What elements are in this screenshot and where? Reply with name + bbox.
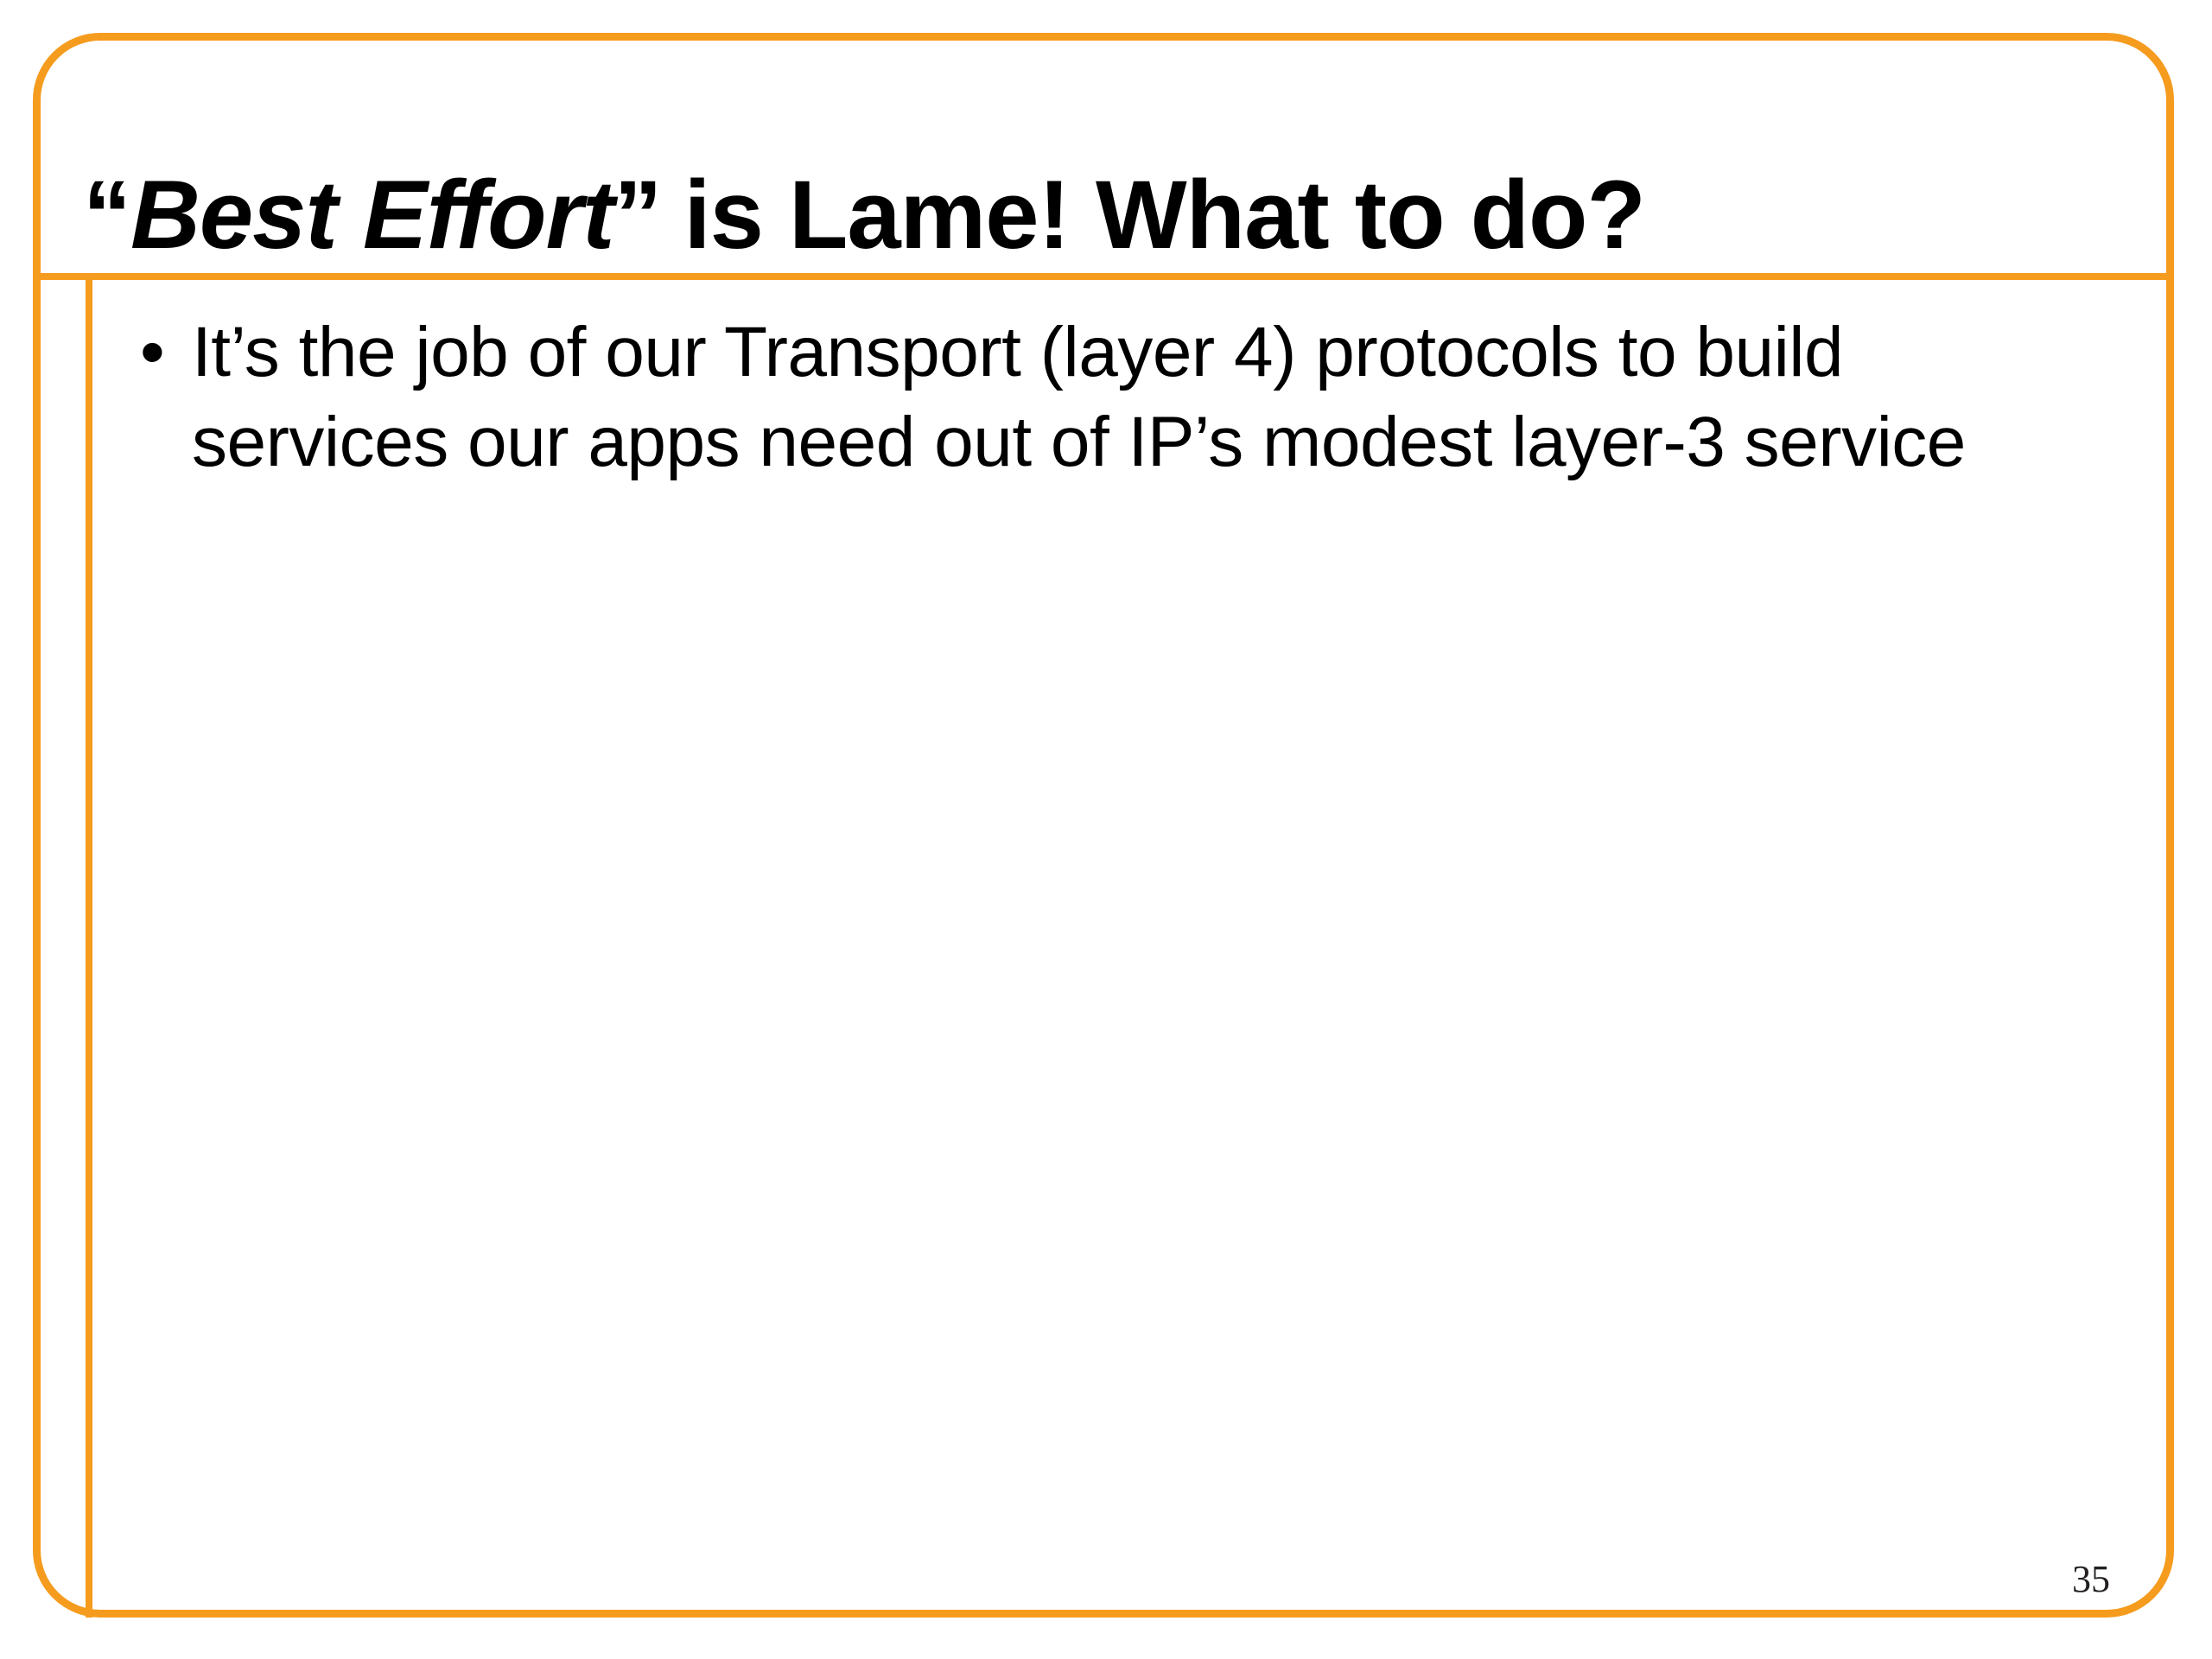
slide-body: • It’s the job of our Transport (layer 4…: [130, 308, 2100, 487]
list-item-label: It’s the job of our Transport (layer 4) …: [192, 308, 1989, 487]
title-divider-rule: [36, 273, 2172, 280]
body-vertical-rule: [86, 273, 92, 1618]
bullet-icon: •: [140, 308, 164, 397]
page-number: 35: [2072, 1560, 2110, 1599]
list-item: • It’s the job of our Transport (layer 4…: [130, 308, 2100, 487]
slide: “Best Effort”is Lame! What to do? • It’s…: [0, 0, 2212, 1659]
slide-title-text: “Best Effort”is Lame! What to do?: [83, 167, 1645, 264]
title-open-quote: “: [83, 161, 130, 269]
title-rest: is Lame! What to do?: [683, 161, 1644, 269]
page-title: “Best Effort”is Lame! What to do?: [83, 102, 2105, 257]
bullet-list: • It’s the job of our Transport (layer 4…: [130, 308, 2100, 487]
title-close-quote: ”: [613, 161, 661, 269]
slide-border-frame: [33, 33, 2174, 1618]
title-emphasis: Best Effort: [130, 161, 613, 269]
